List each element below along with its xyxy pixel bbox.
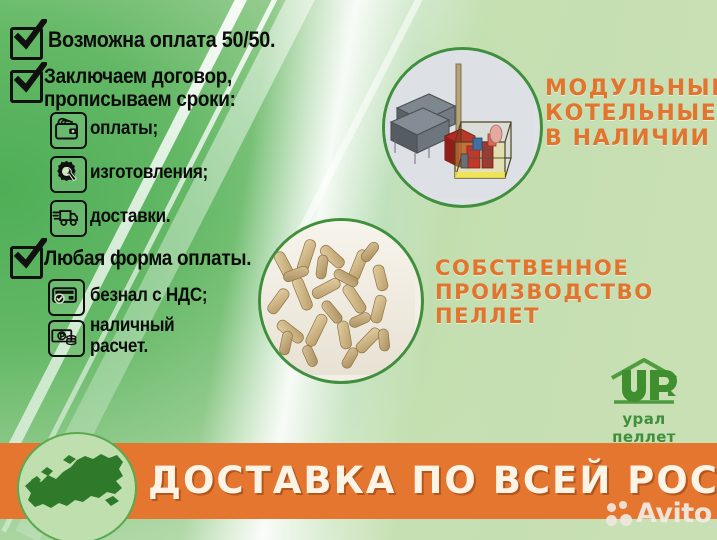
avito-dots-icon	[606, 515, 617, 526]
gear-wrench-icon	[50, 156, 87, 193]
highlight-modular-boilers-line1: МОДУЛЬНЫЕ	[545, 78, 717, 100]
check-mark-icon	[14, 238, 47, 271]
feature-payment-5050: Возможна оплата 50/50.	[48, 28, 275, 52]
avito-label: Avito	[636, 498, 712, 529]
brand-name: урал пеллет	[588, 410, 700, 446]
check-mark-icon	[14, 62, 47, 95]
check-mark-icon	[14, 19, 47, 52]
checkbox-icon	[10, 70, 43, 103]
payment-cash-label: наличный расчет.	[90, 316, 174, 357]
brand-logo: урал пеллет	[588, 358, 700, 434]
credit-card-icon	[48, 279, 85, 316]
modular-boiler-photo	[382, 47, 543, 208]
avito-dots-icon	[607, 503, 616, 512]
highlight-pellet-production-line1: СОБСТВЕННОЕ	[435, 258, 629, 279]
wallet-icon	[50, 112, 87, 149]
avito-watermark: Avito	[606, 498, 712, 532]
pellets-photo	[258, 218, 424, 384]
highlight-modular-boilers-line2: КОТЕЛЬНЫЕ	[545, 103, 717, 125]
term-payment-label: оплаты;	[90, 119, 158, 140]
payment-cashless-label: безнал с НДС;	[90, 286, 207, 307]
feature-any-payment: Любая форма оплаты.	[44, 248, 251, 271]
highlight-pellet-production-line3: ПЕЛЛЕТ	[435, 306, 540, 327]
checkbox-icon	[10, 27, 43, 60]
avito-dots-icon	[620, 514, 632, 526]
term-manufacturing-label: изготовления;	[90, 163, 208, 184]
promo-banner: Возможна оплата 50/50. Заключаем договор…	[0, 0, 717, 540]
highlight-pellet-production-line2: ПРОИЗВОДСТВО	[435, 282, 654, 303]
up-house-logo-icon	[588, 358, 700, 410]
checkbox-icon	[10, 246, 43, 279]
avito-dots-icon	[619, 501, 627, 509]
russia-map-icon	[17, 432, 137, 540]
banknote-coins-icon	[48, 320, 85, 357]
feature-contract: Заключаем договор, прописываем сроки:	[44, 66, 236, 111]
term-delivery-label: доставки.	[90, 207, 170, 228]
truck-icon	[50, 200, 87, 237]
highlight-modular-boilers-line3: В НАЛИЧИИ	[545, 128, 711, 150]
